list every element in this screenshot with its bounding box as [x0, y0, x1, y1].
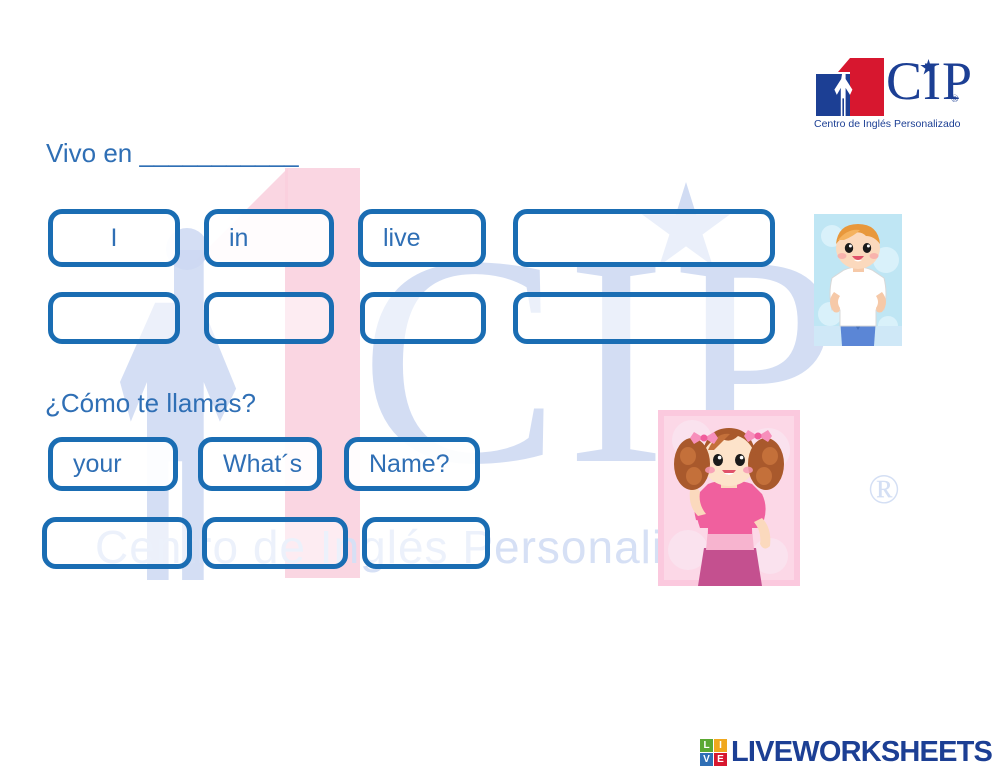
- logo-tile-l: L: [700, 739, 713, 752]
- image-girl: [658, 410, 800, 586]
- answer-slot-name-3[interactable]: [362, 517, 490, 569]
- answer-slot-name-1[interactable]: [42, 517, 192, 569]
- answer-slot-live-4[interactable]: [513, 292, 775, 344]
- cip-logo-mark: CIP ®: [812, 58, 960, 116]
- answer-slot-live-1[interactable]: [48, 292, 180, 344]
- liveworksheets-wordmark: LIVEWORKSHEETS: [731, 736, 992, 769]
- word-tile-live[interactable]: live: [358, 209, 486, 267]
- cip-logo-tagline: Centro de Inglés Personalizado: [814, 118, 961, 130]
- answer-slot-name-2[interactable]: [202, 517, 348, 569]
- logo-tile-i: I: [714, 739, 727, 752]
- logo-tile-e: E: [714, 753, 727, 766]
- logo-red-numeral-one: [850, 58, 884, 116]
- answer-slot-live-2[interactable]: [204, 292, 334, 344]
- prompt-como-te-llamas: ¿Cómo te llamas?: [45, 388, 256, 419]
- registered-mark: ®: [951, 94, 959, 105]
- liveworksheets-logo[interactable]: L I V E LIVEWORKSHEETS: [700, 736, 992, 769]
- prompt-vivo-en: Vivo en ___________: [46, 138, 299, 169]
- word-tile-name[interactable]: Name?: [344, 437, 480, 491]
- watermark-registered-mark: ®: [868, 466, 900, 514]
- answer-slot-live-3[interactable]: [360, 292, 486, 344]
- word-tile-your[interactable]: your: [48, 437, 178, 491]
- worksheet-page: CIP ® Centro de Inglés Personalizado CIP…: [0, 0, 1000, 772]
- word-tile-in[interactable]: in: [204, 209, 334, 267]
- image-boy: [814, 214, 902, 346]
- cip-logo-letters: CIP: [886, 54, 973, 108]
- word-tile-whats[interactable]: What´s: [198, 437, 322, 491]
- liveworksheets-logo-tiles: L I V E: [700, 739, 727, 766]
- boy-illustration: [814, 214, 902, 346]
- girl-illustration: [658, 410, 800, 586]
- logo-tile-v: V: [700, 753, 713, 766]
- word-tile-i[interactable]: I: [48, 209, 180, 267]
- word-tile-blank-1[interactable]: [513, 209, 775, 267]
- cip-logo: CIP ® Centro de Inglés Personalizado: [812, 58, 960, 136]
